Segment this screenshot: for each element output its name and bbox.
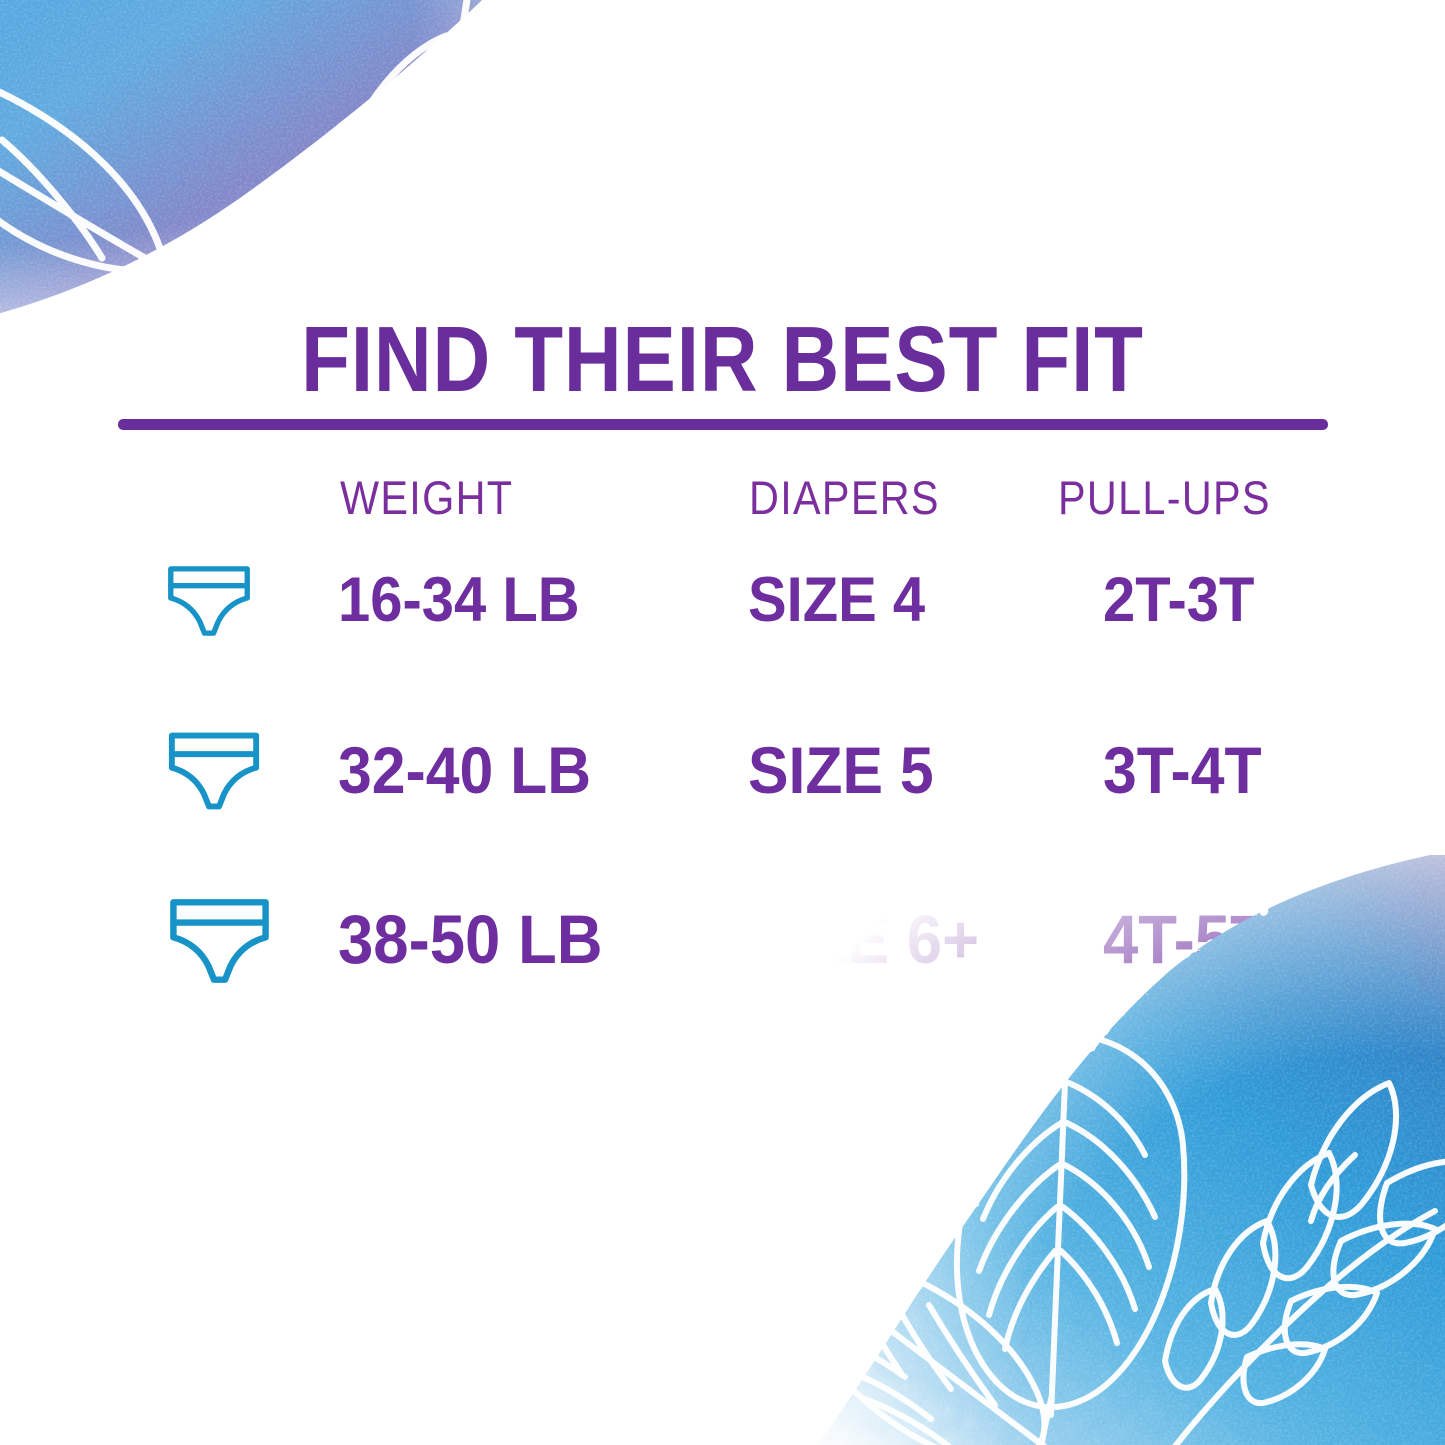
size-chart-table: WEIGHT DIAPERS PULL-UPS 16-34 LB SIZE 4 … — [0, 470, 1445, 1058]
cell-pullups: 4T-5T — [1103, 900, 1269, 979]
page-title: FIND THEIR BEST FIT — [101, 313, 1344, 406]
column-header-pullups: PULL-UPS — [1058, 470, 1271, 525]
column-header-weight: WEIGHT — [340, 470, 513, 525]
table-header-row: WEIGHT DIAPERS PULL-UPS — [0, 470, 1445, 548]
training-pants-icon — [163, 562, 255, 640]
size-chart-page: FIND THEIR BEST FIT WEIGHT DIAPERS PULL-… — [0, 0, 1445, 1445]
column-header-diapers: DIAPERS — [749, 470, 940, 525]
cell-weight: 16-34 LB — [338, 564, 580, 636]
cell-pullups: 3T-4T — [1103, 732, 1262, 808]
cell-diapers: SIZE 5 — [748, 732, 934, 808]
cell-diapers: SIZE 4 — [748, 564, 925, 636]
title-divider-rule — [118, 419, 1328, 430]
cell-weight: 38-50 LB — [338, 900, 603, 979]
cell-pullups: 2T-3T — [1103, 564, 1254, 636]
training-pants-icon — [163, 728, 265, 814]
training-pants-icon — [163, 894, 276, 988]
table-row: 32-40 LB SIZE 5 3T-4T — [0, 718, 1445, 888]
cell-diapers: SIZE 6+ — [748, 900, 979, 979]
table-row: 16-34 LB SIZE 4 2T-3T — [0, 548, 1445, 718]
cell-weight: 32-40 LB — [338, 732, 591, 808]
table-row: 38-50 LB SIZE 6+ 4T-5T — [0, 888, 1445, 1058]
